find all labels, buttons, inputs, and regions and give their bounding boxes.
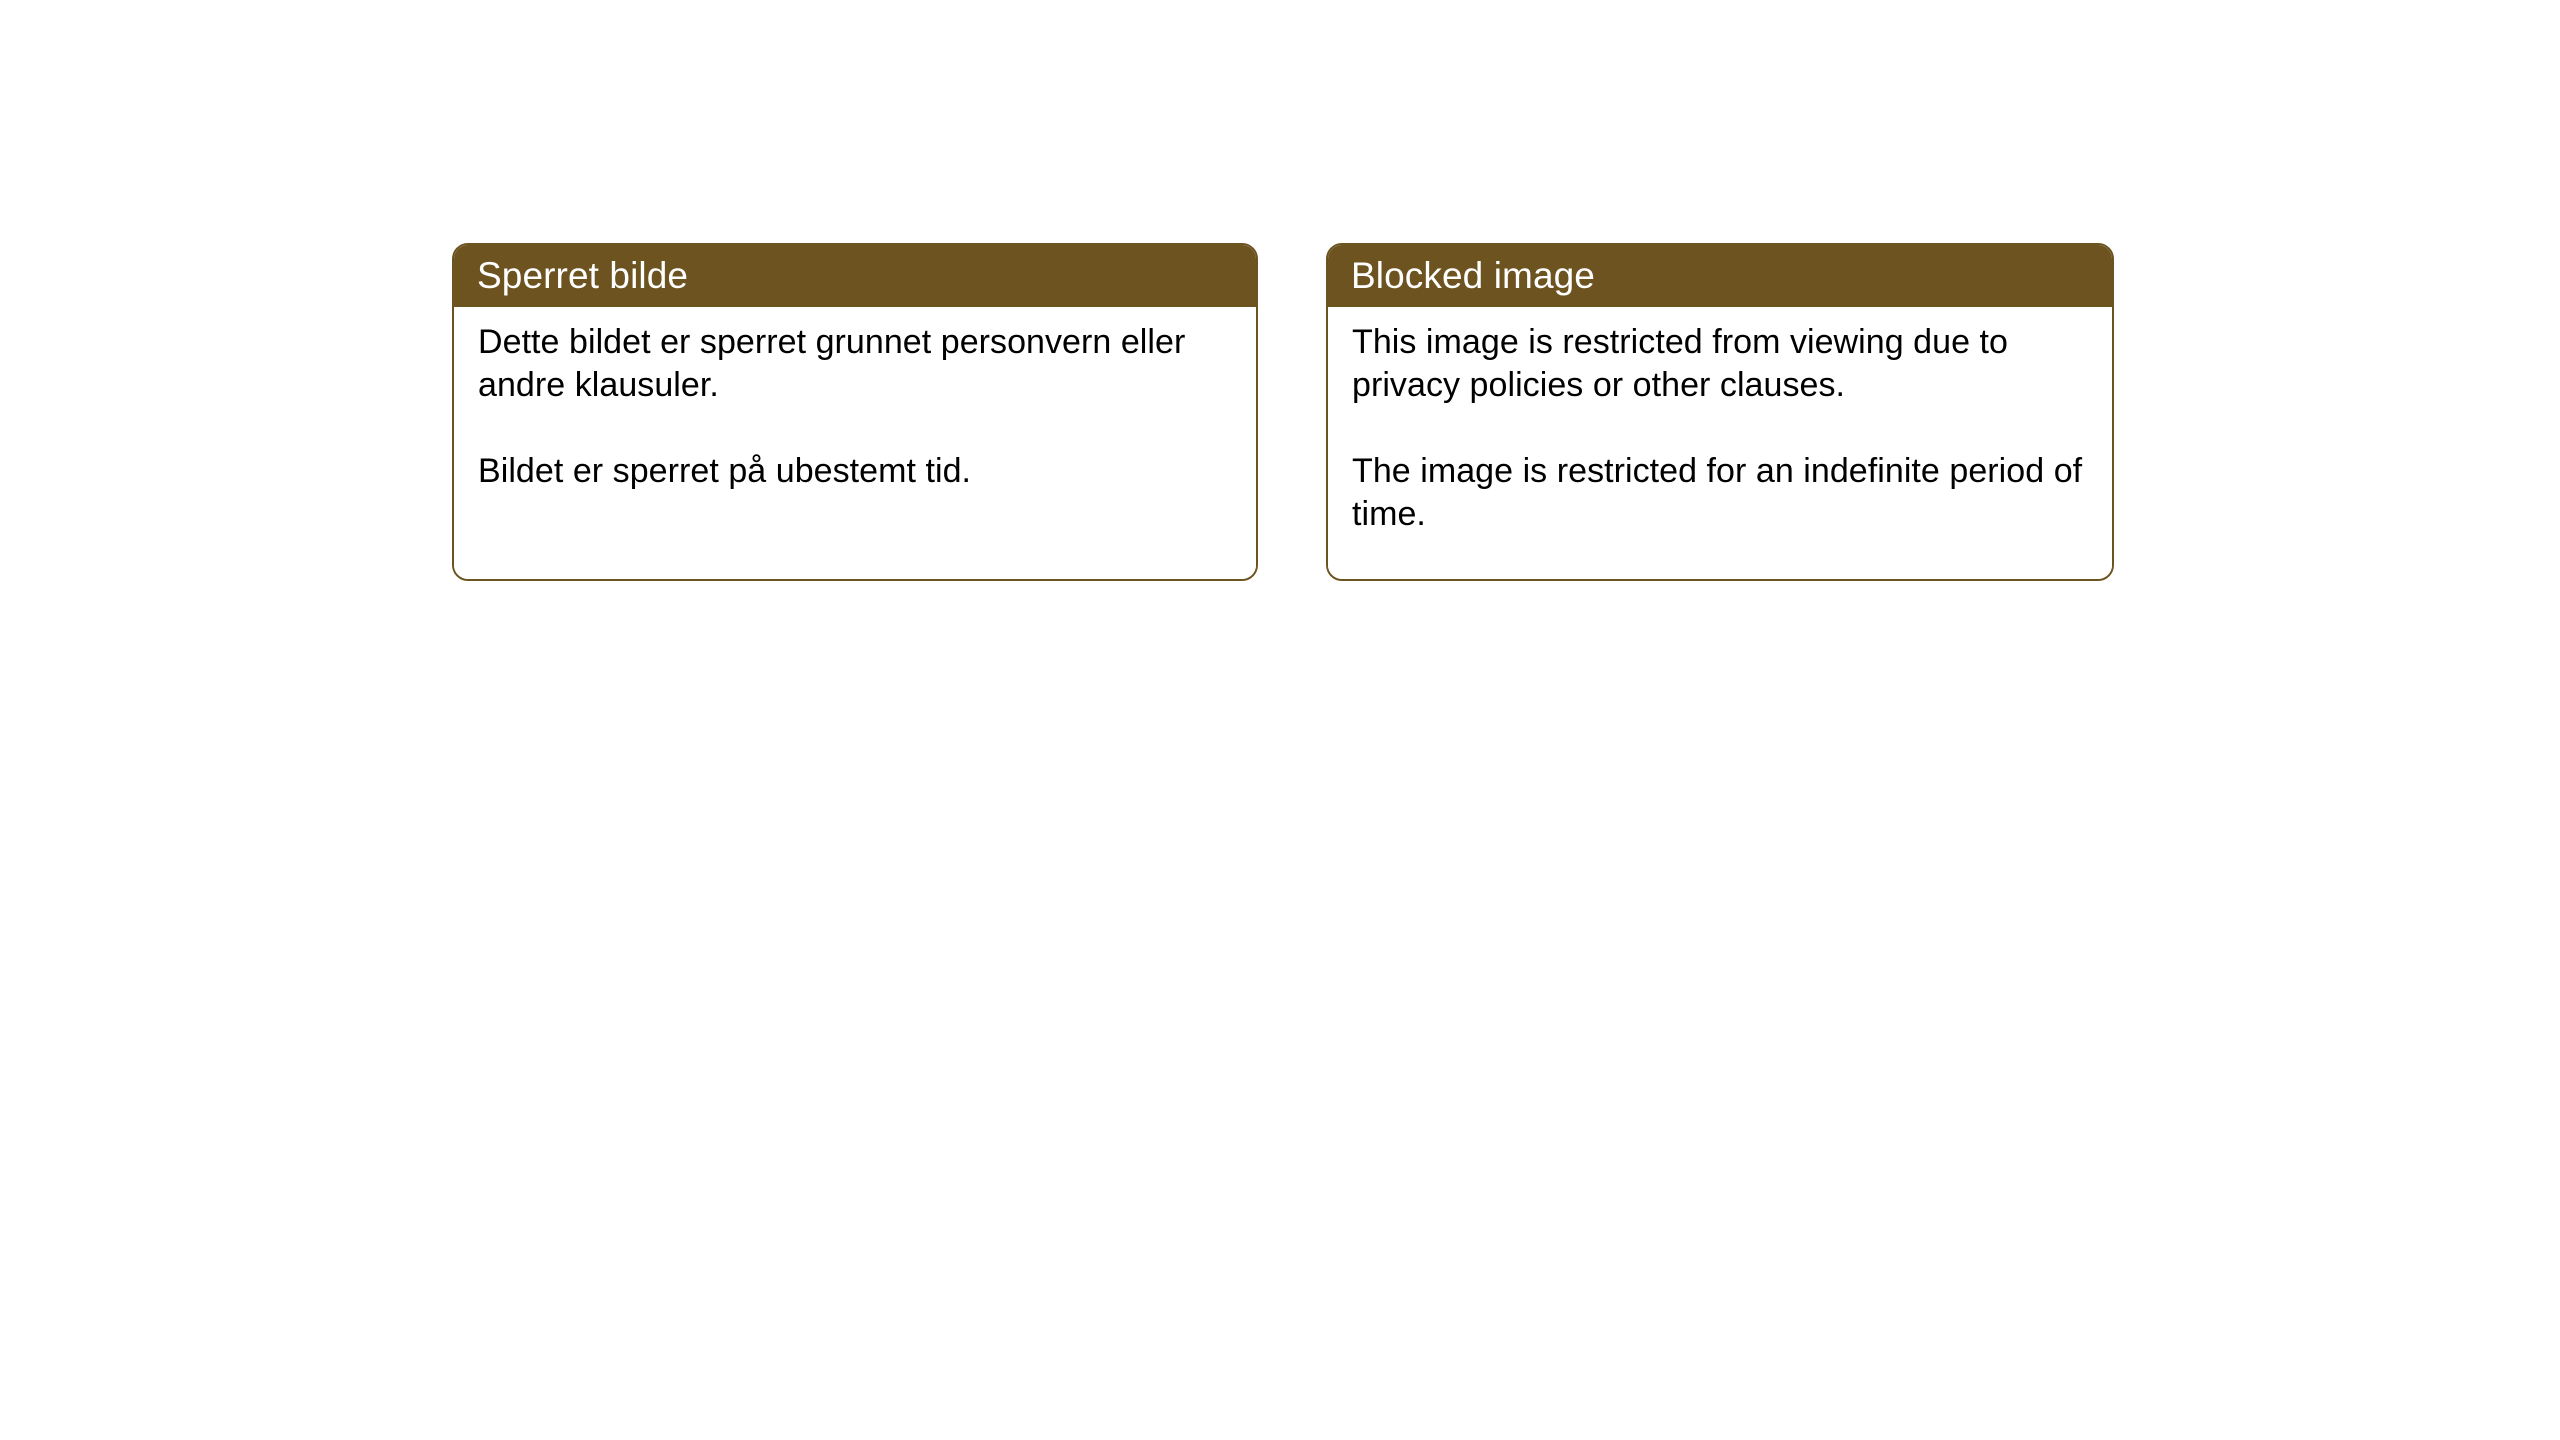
card-title-english: Blocked image bbox=[1351, 254, 1595, 298]
card-paragraph-norwegian-1: Dette bildet er sperret grunnet personve… bbox=[478, 321, 1236, 407]
card-body-english: This image is restricted from viewing du… bbox=[1328, 307, 2112, 579]
card-header-norwegian: Sperret bilde bbox=[454, 245, 1256, 307]
paragraph-spacer-english bbox=[1352, 407, 2092, 450]
card-paragraph-english-1: This image is restricted from viewing du… bbox=[1352, 321, 2092, 407]
card-header-english: Blocked image bbox=[1328, 245, 2112, 307]
page-canvas: Sperret bilde Dette bildet er sperret gr… bbox=[0, 0, 2560, 1440]
card-body-norwegian: Dette bildet er sperret grunnet personve… bbox=[454, 307, 1256, 579]
card-paragraph-norwegian-2: Bildet er sperret på ubestemt tid. bbox=[478, 450, 1236, 493]
paragraph-spacer-norwegian bbox=[478, 407, 1236, 450]
blocked-image-notice-card-norwegian: Sperret bilde Dette bildet er sperret gr… bbox=[452, 243, 1258, 581]
card-title-norwegian: Sperret bilde bbox=[477, 254, 688, 298]
card-paragraph-english-2: The image is restricted for an indefinit… bbox=[1352, 450, 2092, 536]
blocked-image-notice-card-english: Blocked image This image is restricted f… bbox=[1326, 243, 2114, 581]
